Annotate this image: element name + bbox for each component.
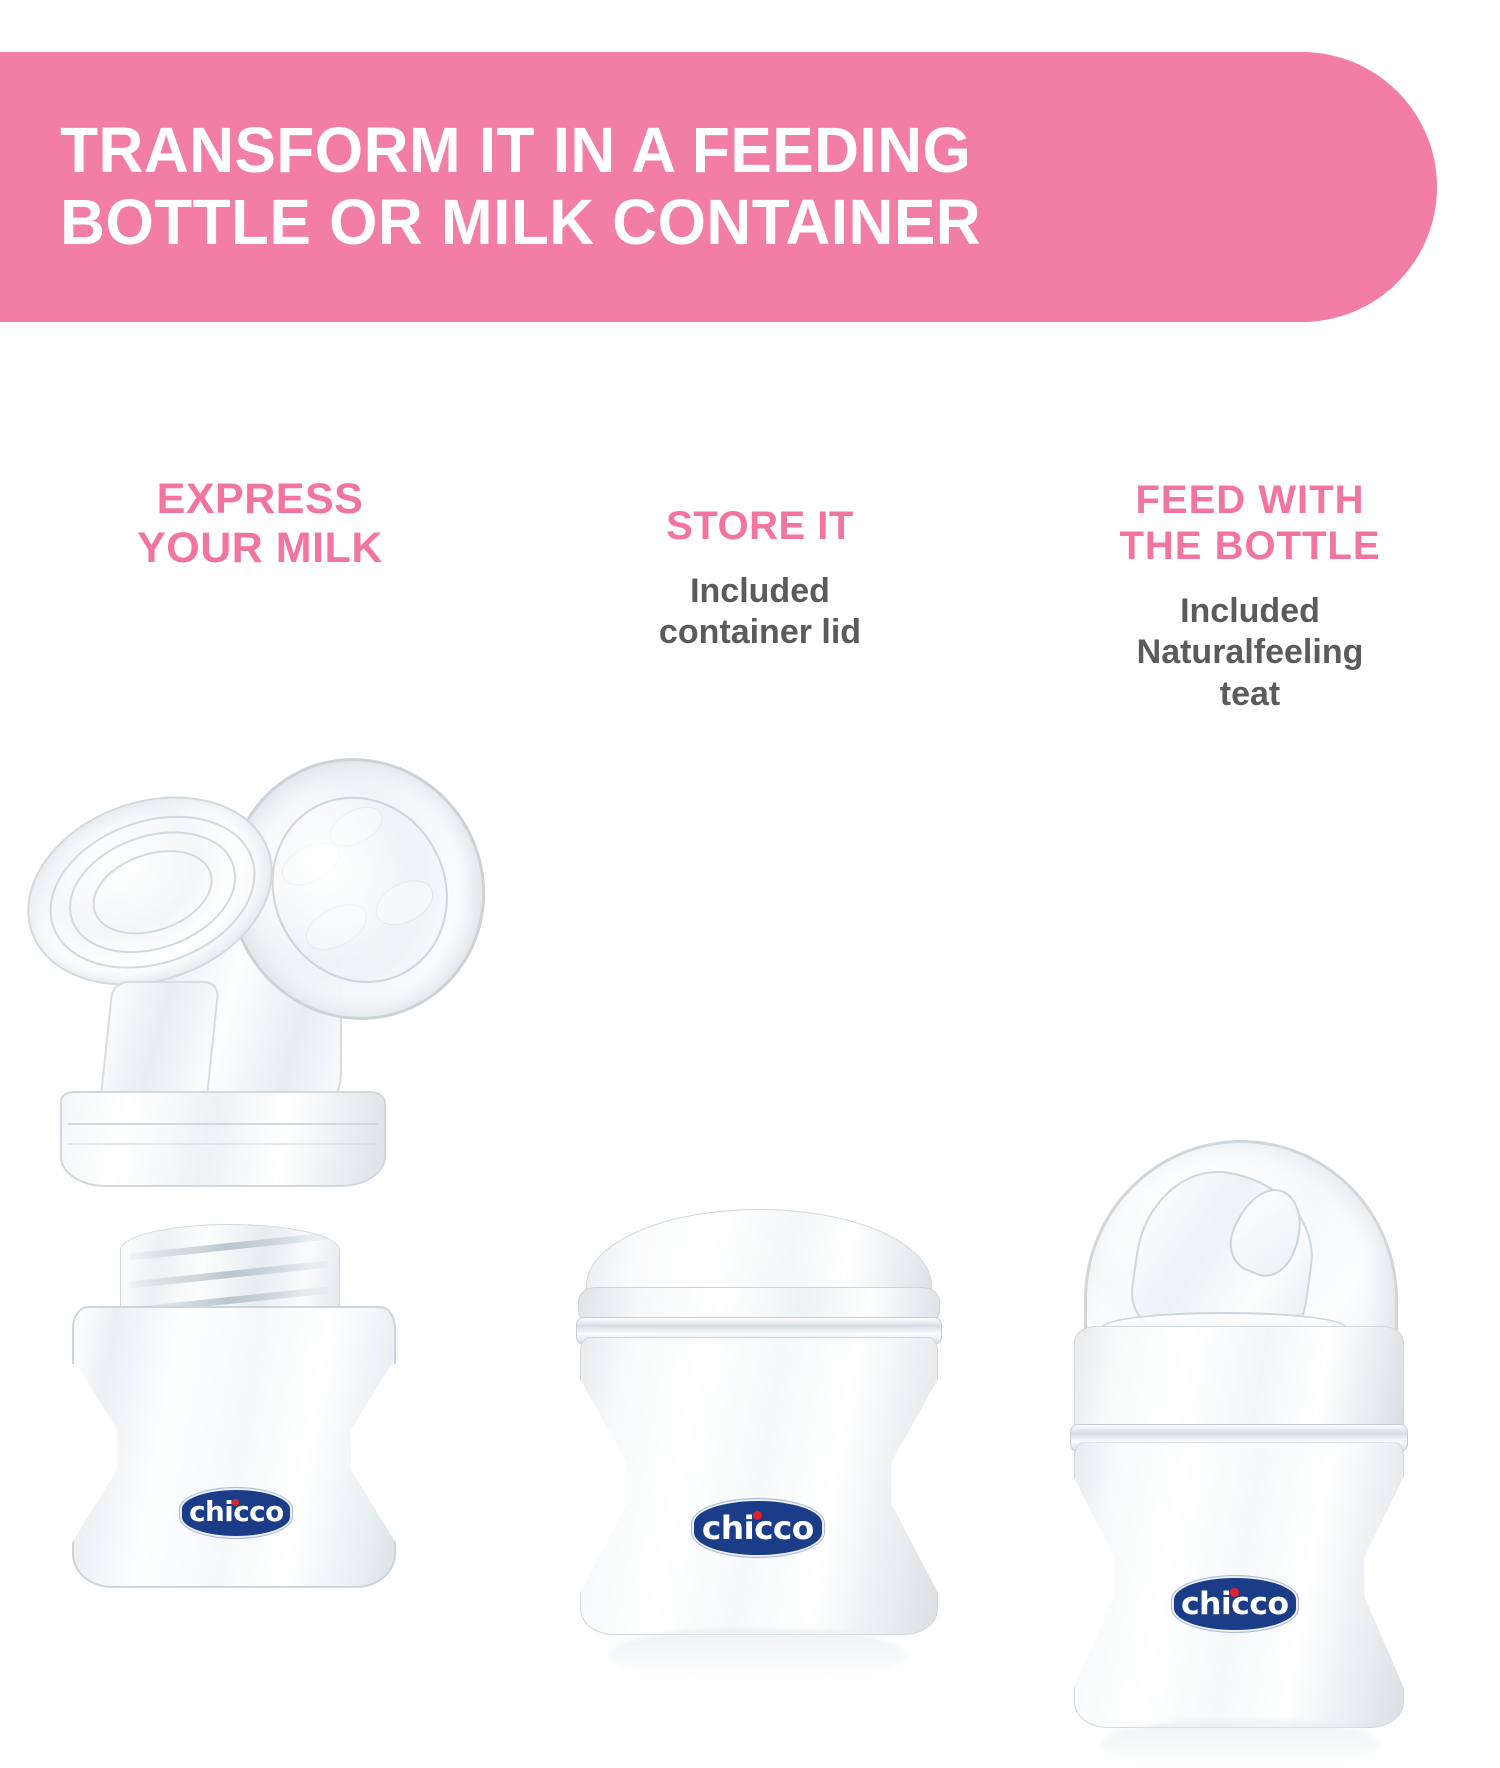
pump-petal: [275, 833, 346, 893]
product-steps-row: EXPRESS YOUR MILK: [0, 455, 1500, 1500]
bottle-thread: [129, 1260, 329, 1288]
step-subtext-feed: Included Naturalfeeling teat: [1000, 569, 1500, 715]
breast-pump-illustration: [18, 749, 488, 1199]
step-column-store: STORE IT Included container lid chicco: [520, 455, 1000, 1500]
chicco-logo: chicco: [692, 1499, 824, 1557]
container-reflection: [608, 1629, 908, 1681]
feeding-bottle-reflection: [1100, 1720, 1380, 1768]
pump-petal: [323, 799, 388, 855]
pump-petal: [369, 871, 441, 934]
pump-base-collar: [60, 1091, 386, 1187]
header-banner: TRANSFORM IT IN A FEEDING BOTTLE OR MILK…: [0, 52, 1437, 322]
step-heading-store: STORE IT: [520, 455, 1000, 549]
milk-container-illustration: chicco: [568, 1209, 948, 1649]
bottle-screw-collar: [1074, 1326, 1404, 1436]
pump-petal: [298, 895, 375, 960]
step-column-express: EXPRESS YOUR MILK: [0, 455, 520, 1500]
container-body: [580, 1337, 938, 1635]
bottle-thread: [129, 1232, 329, 1260]
page-title: TRANSFORM IT IN A FEEDING BOTTLE OR MILK…: [0, 115, 1068, 258]
chicco-logo-dot-icon: [753, 1511, 762, 1520]
feeding-bottle-illustration: chicco: [1040, 1140, 1440, 1720]
chicco-logo: chicco: [1172, 1576, 1298, 1632]
step-column-feed: FEED WITH THE BOTTLE Included Naturalfee…: [1000, 455, 1500, 1500]
step-subtext-store: Included container lid: [520, 549, 1000, 654]
step-heading-feed: FEED WITH THE BOTTLE: [1000, 455, 1500, 569]
step-heading-express: EXPRESS YOUR MILK: [0, 455, 520, 574]
clear-bottle-illustration: chicco: [72, 1224, 392, 1584]
chicco-logo: chicco: [180, 1488, 292, 1538]
bottle-body: [72, 1306, 396, 1588]
